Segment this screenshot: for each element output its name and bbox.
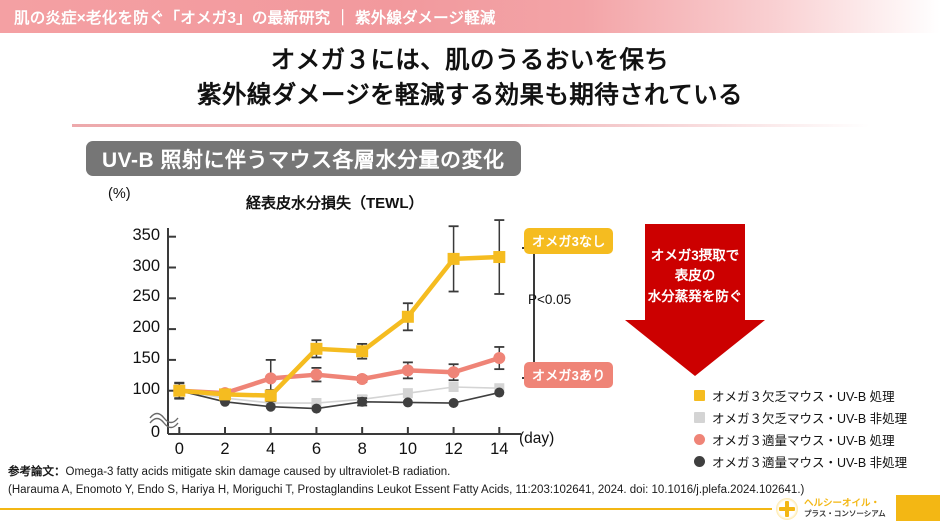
p-value-bracket — [522, 248, 534, 378]
citation-prefix: 参考論文： — [8, 466, 66, 478]
p-value-annotation: P<0.05 — [528, 292, 571, 307]
y-tick-label: 150 — [110, 349, 160, 368]
chart-series-omega3-deficient-nouvb — [174, 382, 504, 408]
page-title-line2: 紫外線ダメージを軽減する効果も期待されている — [0, 79, 940, 114]
citation-title: Omega-3 fatty acids mitigate skin damage… — [66, 466, 451, 478]
x-tick-label: 10 — [391, 440, 425, 459]
plus-cross-icon — [776, 498, 798, 520]
chart-title: 経表皮水分損失（TEWL） — [246, 192, 424, 213]
brand-logo-text: ヘルシーオイル・ プラス・コンソーシアム — [804, 499, 886, 519]
badge-omega3-none: オメガ3なし — [524, 228, 613, 254]
callout-arrow: オメガ3摂取で 表皮の 水分蒸発を防ぐ — [625, 224, 765, 376]
slide-root: 肌の炎症×老化を防ぐ「オメガ3」の最新研究 ｜ 紫外線ダメージ軽減 オメガ３には… — [0, 0, 940, 529]
chart-series-omega3-adequate-uvb — [173, 347, 505, 399]
y-tick-label: 200 — [110, 318, 160, 337]
corner-accent-block — [896, 495, 940, 521]
badge-omega3-with: オメガ3あり — [524, 362, 613, 388]
page-title-line1: オメガ３には、肌のうるおいを保ち — [271, 47, 669, 74]
footer-divider — [0, 508, 772, 510]
legend-item-label: オメガ３欠乏マウス・UV-B 非処理 — [712, 408, 907, 427]
y-tick-label: 100 — [110, 380, 160, 399]
citation-line2: (Harauma A, Enomoto Y, Endo S, Hariya H,… — [8, 482, 804, 500]
x-tick-label: 14 — [482, 440, 516, 459]
header-ribbon-text: 肌の炎症×老化を防ぐ「オメガ3」の最新研究 ｜ 紫外線ダメージ軽減 — [0, 6, 496, 28]
header-ribbon: 肌の炎症×老化を防ぐ「オメガ3」の最新研究 ｜ 紫外線ダメージ軽減 — [0, 0, 940, 33]
chart-series-omega3-adequate-nouvb — [174, 386, 504, 414]
callout-text: オメガ3摂取で 表皮の 水分蒸発を防ぐ — [625, 246, 765, 307]
legend-item-label: オメガ３適量マウス・UV-B 処理 — [712, 430, 895, 449]
chart-legend: オメガ３欠乏マウス・UV-B 処理オメガ３欠乏マウス・UV-B 非処理オメガ３適… — [694, 386, 907, 471]
citation-note: 参考論文：Omega-3 fatty acids mitigate skin d… — [8, 464, 804, 500]
section-heading: UV-B 照射に伴うマウス各層水分量の変化 — [86, 141, 521, 176]
brand-logo: ヘルシーオイル・ プラス・コンソーシアム — [776, 498, 886, 520]
x-tick-label: 8 — [345, 440, 379, 459]
x-tick-label: 4 — [254, 440, 288, 459]
y-tick-label: 350 — [110, 226, 160, 245]
chart-y-unit: (%) — [108, 186, 131, 202]
x-tick-label: 0 — [162, 440, 196, 459]
legend-swatch-icon — [694, 390, 705, 401]
legend-item: オメガ３欠乏マウス・UV-B 非処理 — [694, 408, 907, 427]
section-heading-label: UV-B 照射に伴うマウス各層水分量の変化 — [102, 144, 505, 174]
x-tick-label: 6 — [299, 440, 333, 459]
y-tick-label: 300 — [110, 257, 160, 276]
callout-line2: 表皮の — [625, 266, 765, 286]
x-tick-label: 12 — [437, 440, 471, 459]
page-title: オメガ３には、肌のうるおいを保ち 紫外線ダメージを軽減する効果も期待されている — [0, 44, 940, 114]
legend-item-label: オメガ３欠乏マウス・UV-B 処理 — [712, 386, 895, 405]
chart-x-unit: (day) — [519, 430, 554, 448]
legend-swatch-icon — [694, 412, 705, 423]
brand-name-line2: プラス・コンソーシアム — [804, 510, 886, 519]
legend-item: オメガ３適量マウス・UV-B 処理 — [694, 430, 907, 449]
callout-line1: オメガ3摂取で — [625, 246, 765, 266]
chart-series-omega3-deficient-uvb — [173, 220, 505, 402]
citation-line1: 参考論文：Omega-3 fatty acids mitigate skin d… — [8, 464, 804, 482]
callout-line3: 水分蒸発を防ぐ — [625, 287, 765, 307]
y-tick-label: 250 — [110, 287, 160, 306]
legend-item: オメガ３欠乏マウス・UV-B 処理 — [694, 386, 907, 405]
y-tick-label: 0 — [110, 423, 160, 442]
x-tick-label: 2 — [208, 440, 242, 459]
legend-swatch-icon — [694, 434, 705, 445]
title-divider — [72, 124, 870, 127]
